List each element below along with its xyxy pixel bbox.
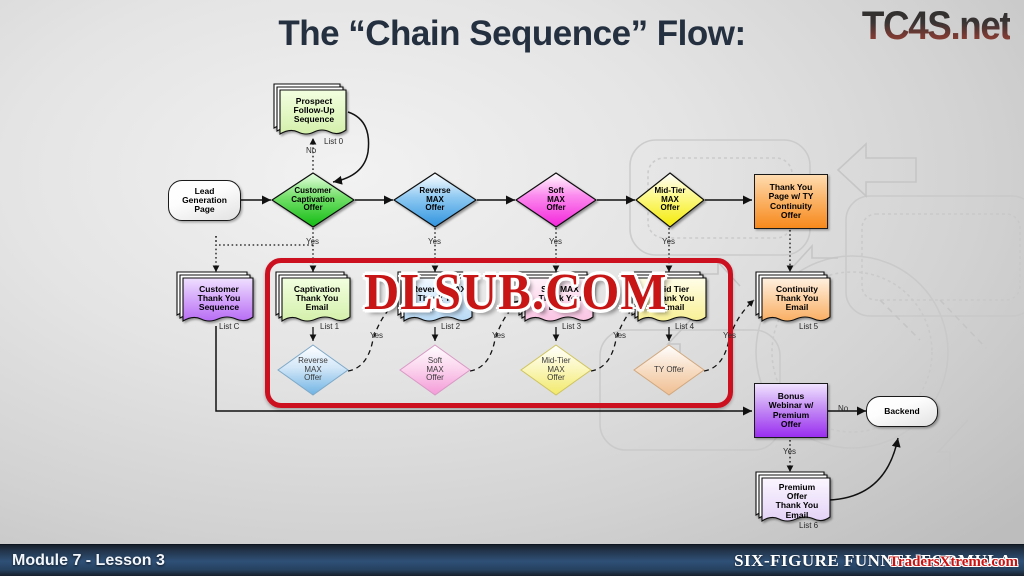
list-tag-3: List 3	[562, 322, 581, 331]
node-lead-generation-page[interactable]: Lead Generation Page	[168, 180, 241, 221]
node-bonus-webinar-premium-offer[interactable]: Bonus Webinar w/ Premium Offer	[754, 383, 828, 438]
node-label: Reverse MAX Offer	[277, 344, 349, 396]
edge-label-yes-ty2: Yes	[723, 331, 736, 340]
node-label: Thank You Page w/ TY Continuity Offer	[755, 175, 827, 228]
node-label: Lead Generation Page	[169, 181, 240, 220]
node-reverse-max-offer-secondary[interactable]: Reverse MAX Offer	[277, 344, 349, 396]
node-customer-thank-you-sequence[interactable]: Customer Thank You Sequence	[177, 272, 255, 327]
list-tag-0: List 0	[324, 137, 343, 146]
list-tag-c: List C	[219, 322, 239, 331]
node-soft-max-offer[interactable]: Soft MAX Offer	[515, 172, 597, 228]
node-label: Mid-Tier MAX Offer	[520, 344, 592, 396]
node-label: Bonus Webinar w/ Premium Offer	[755, 384, 827, 437]
edge-label-yes-r2: Yes	[370, 331, 383, 340]
node-label: Continuity Thank You Email	[762, 278, 832, 318]
node-label: Reverse MAX Offer	[393, 172, 477, 228]
list-tag-1: List 1	[320, 322, 339, 331]
node-label: Mid-Tier MAX Offer	[635, 172, 705, 228]
edge-label-yes-midtier: Yes	[662, 237, 675, 246]
list-tag-5: List 5	[799, 322, 818, 331]
node-mid-tier-max-offer-secondary[interactable]: Mid-Tier MAX Offer	[520, 344, 592, 396]
node-prospect-follow-up-sequence[interactable]: Prospect Follow-Up Sequence	[274, 84, 348, 140]
footer-lesson-title: Module 7 - Lesson 3	[12, 552, 165, 570]
node-premium-offer-thank-you-email[interactable]: Premium Offer Thank You Email	[756, 472, 832, 527]
node-thank-you-page-ty-continuity[interactable]: Thank You Page w/ TY Continuity Offer	[754, 174, 828, 229]
watermark-tradersxtreme: TradersXtreme.com	[889, 554, 1018, 571]
node-ty-offer[interactable]: TY Offer	[633, 344, 705, 396]
node-label: Customer Captivation Offer	[271, 172, 355, 228]
edge-label-yes-m2: Yes	[613, 331, 626, 340]
node-backend[interactable]: Backend	[866, 396, 938, 427]
node-label: Backend	[867, 397, 937, 426]
node-label: Customer Thank You Sequence	[183, 278, 255, 318]
list-tag-4: List 4	[675, 322, 694, 331]
edge-label-yes-reverse: Yes	[428, 237, 441, 246]
node-continuity-thank-you-email[interactable]: Continuity Thank You Email	[756, 272, 832, 327]
edge-label-yes-premium: Yes	[783, 447, 796, 456]
node-mid-tier-max-offer[interactable]: Mid-Tier MAX Offer	[635, 172, 705, 228]
node-captivation-thank-you-email[interactable]: Captivation Thank You Email	[276, 272, 352, 327]
node-label: Soft MAX Offer	[515, 172, 597, 228]
edge-label-no-backend: No	[838, 404, 848, 413]
list-tag-6: List 6	[799, 521, 818, 530]
node-label: TY Offer	[633, 344, 705, 396]
node-label: Premium Offer Thank You Email	[762, 476, 832, 520]
edge-label-yes-captivation: Yes	[306, 237, 319, 246]
watermark-dlsub: DLSUB.COM	[364, 262, 667, 321]
edge-label-yes-soft: Yes	[549, 237, 562, 246]
node-label: Captivation Thank You Email	[282, 278, 352, 318]
node-label: Soft MAX Offer	[399, 344, 471, 396]
footer-bar: Module 7 - Lesson 3 SIX-FIGURE FUNNEL FO…	[0, 544, 1024, 576]
edge-label-no-prospect: No	[306, 146, 316, 155]
list-tag-2: List 2	[441, 322, 460, 331]
node-soft-max-offer-secondary[interactable]: Soft MAX Offer	[399, 344, 471, 396]
node-customer-captivation-offer[interactable]: Customer Captivation Offer	[271, 172, 355, 228]
edge-label-yes-s2: Yes	[492, 331, 505, 340]
node-label: Prospect Follow-Up Sequence	[280, 90, 348, 130]
node-reverse-max-offer[interactable]: Reverse MAX Offer	[393, 172, 477, 228]
